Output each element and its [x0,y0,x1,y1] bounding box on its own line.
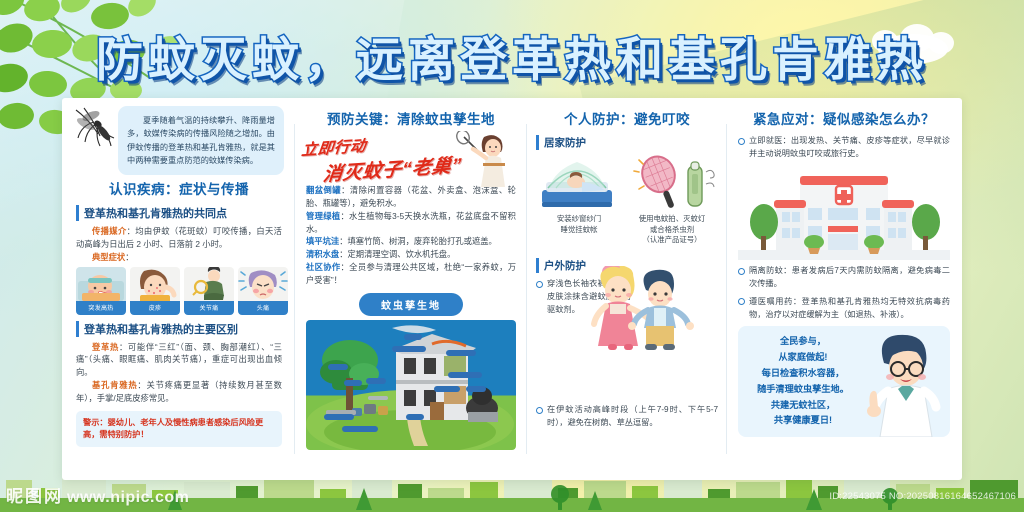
breeding-sites-illustration [306,320,516,450]
emergency-key: 立即就医 [749,136,783,145]
hospital-building-icon [738,164,950,260]
column-disease-knowledge: 夏季随着气温的持续攀升、降雨量增多，蚊媒传染病的传播风险随之增加。由伊蚊传播的登… [62,98,294,480]
protection-item: 安装纱窗纱门 睡觉挂蚊帐 [536,154,622,246]
poster-stage: 防蚊灭蚊，远离登革热和基孔肯雅热 [0,0,1024,512]
cta-line: 从家庭做起! [747,350,859,366]
section-title-prevention: 预防关键：清除蚊虫孳生地 [306,108,516,128]
headache-icon [238,267,288,301]
section-title-disease: 认识疾病：症状与传播 [76,178,282,198]
emergency-bullet-body: 遵医嘱用药：登革热和基孔肯雅热均无特效抗病毒药物，治疗以对症缓解为主（如退热、补… [749,296,950,321]
label-transmission-vector: 传播媒介 [92,226,127,236]
symptom-card-row: 突发高热 皮疹 [76,267,282,315]
bullet-dot-icon [536,407,543,414]
poster-title: 防蚊灭蚊，远离登革热和基孔肯雅热 [0,26,1024,96]
image-id-text: ID:22543075 NO:20250816164652467106 [829,491,1016,502]
protection-item: 使用电蚊拍、灭蚊灯 或合格杀虫剂 （认准产品证号） [626,154,718,246]
label-typical-symptoms: 典型症状 [92,252,125,262]
section-title-emergency: 紧急应对：疑似感染怎么办？ [738,108,950,128]
emergency-bullet: 隔离防蚊：患者发病后7天内需防蚊隔离，避免病毒二次传播。 [738,265,950,290]
column-emergency-response: 紧急应对：疑似感染怎么办？ 立即就医：出现发热、关节痛、皮疹等症状，尽早就诊并主… [726,98,962,480]
label-dengue: 登革热 [92,342,119,352]
symptom-card: 头痛 [238,267,288,315]
symptom-card: 突发高热 [76,267,126,315]
column-personal-protection: 个人防护：避免叮咬 居家防护 [526,98,726,480]
subheading-differences: 登革热和基孔肯雅热的主要区别 [76,321,282,337]
prevention-item: 清积水盘：定期清理空调、饮水机托盘。 [306,248,516,261]
call-to-action-box: 全民参与， 从家庭做起! 每日检查积水容器， 随手清理蚊虫孳生地。 共建无蚊社区… [738,326,950,437]
cta-line: 全民参与， [747,334,859,350]
prevention-text: ：填塞竹筒、树洞，废弃轮胎打孔或遮盖。 [339,236,497,246]
symptom-card: 关节痛 [184,267,234,315]
mosquito-net-bed-icon [536,154,622,212]
prevention-item: 翻盆倒罐：清除闲置容器（花盆、外卖盒、泡沫盒、轮胎、瓶罐等），避免积水。 [306,184,516,210]
cta-text-block: 全民参与， 从家庭做起! 每日检查积水容器， 随手清理蚊虫孳生地。 共建无蚊社区… [747,334,859,429]
prevention-item: 社区协作：全员参与清理公共区域，杜绝“一家养蚊，万户受害”！ [306,261,516,287]
bullet-dot-icon [738,298,745,305]
paragraph-chikungunya: 基孔肯雅热：关节疼痛更显著（持续数月甚至数年），手掌/足底皮疹常见。 [76,379,282,405]
symptom-label: 关节痛 [184,301,234,315]
prevention-key: 管理绿植 [306,211,340,221]
prevention-key: 清积水盘 [306,249,339,259]
symptom-label: 突发高热 [76,301,126,315]
bullet-dot-icon [738,138,745,145]
home-protection-icons: 安装纱窗纱门 睡觉挂蚊帐 [536,154,718,246]
breeding-sites-pill-label: 蚊虫孳生地 [359,293,463,316]
children-outdoor-illustration [536,316,718,402]
emergency-bullet-body: 隔离防蚊：患者发病后7天内需防蚊隔离，避免病毒二次传播。 [749,265,950,290]
column-prevention: 预防关键：清除蚊虫孳生地 立即行动 消灭蚊子“老巢” 翻盆倒罐：清除闲置 [294,98,526,480]
cta-line: 共建无蚊社区， [747,398,859,414]
emergency-bullet: 立即就医：出现发热、关节痛、皮疹等症状，尽早就诊并主动说明蚊虫叮咬或旅行史。 [738,135,950,160]
watermark-url: www.nipic.com [67,489,189,506]
text-typical-symptoms: ： [125,252,133,262]
emergency-bullet: 遵医嘱用药：登革热和基孔肯雅热均无特效抗病毒药物，治疗以对症缓解为主（如退热、补… [738,296,950,321]
doctor-illustration [862,333,948,437]
paragraph-transmission: 传播媒介：均由伊蚊（花斑蚊）叮咬传播，白天活动高峰为日出后 2 小时、日落前 2… [76,225,282,251]
rash-icon [130,267,180,301]
label-chikungunya: 基孔肯雅热 [92,380,137,390]
mosquito-icon [64,100,120,152]
paragraph-typical-symptoms: 典型症状： [76,251,282,264]
emergency-key: 隔离防蚊 [749,266,783,275]
bullet-dot-icon [738,268,745,275]
woman-with-racket-icon [456,131,518,187]
cta-line: 随手清理蚊虫孳生地。 [747,382,859,398]
paragraph-dengue: 登革热：可能伴“三红”（面、颈、胸部潮红）、“三痛”（头痛、眼眶痛、肌肉关节痛）… [76,341,282,380]
subheading-common-points: 登革热和基孔肯雅热的共同点 [76,205,282,221]
prevention-item-list: 翻盆倒罐：清除闲置容器（花盆、外卖盒、泡沫盒、轮胎、瓶罐等），避免积水。 管理绿… [306,184,516,287]
symptom-card: 皮疹 [130,267,180,315]
content-panel: 夏季随着气温的持续攀升、降雨量增多，蚊媒传染病的传播风险随之增加。由伊蚊传播的登… [62,98,962,480]
slogan-line1: 立即行动 [301,134,368,160]
emergency-key: 遵医嘱用药 [749,297,793,306]
joint-pain-icon [184,267,234,301]
outdoor-bullet: 在伊蚊活动高峰时段（上午7-9时、下午5-7时），避免在树荫、草丛逗留。 [536,404,718,429]
intro-bubble: 夏季随着气温的持续攀升、降雨量增多，蚊媒传染病的传播风险随之增加。由伊蚊传播的登… [118,106,284,175]
outdoor-bullet-text: 在伊蚊活动高峰时段（上午7-9时、下午5-7时），避免在树荫、草丛逗留。 [547,404,718,429]
prevention-key: 填平坑洼 [306,236,339,246]
watermark-cn: 昵图网 [6,487,63,506]
subheading-home-protection: 居家防护 [536,135,718,150]
warning-box: 警示：婴幼儿、老年人及慢性病患者感染后风险更高，需特别防护！ [76,411,282,448]
protection-caption: 安装纱窗纱门 睡觉挂蚊帐 [536,214,622,235]
prevention-item: 填平坑洼：填塞竹筒、树洞，废弃轮胎打孔或遮盖。 [306,235,516,248]
section-title-personal-protection: 个人防护：避免叮咬 [536,108,718,128]
symptom-label: 皮疹 [130,301,180,315]
symptom-label: 头痛 [238,301,288,315]
prevention-item: 管理绿植：水生植物每3-5天换水洗瓶，花盆底盘不留积水。 [306,210,516,236]
watermark: 昵图网www.nipic.com [6,482,189,507]
electric-swatter-icon [626,154,718,212]
protection-caption: 使用电蚊拍、灭蚊灯 或合格杀虫剂 （认准产品证号） [626,214,718,246]
fever-icon [76,267,126,301]
cta-line: 共享健康夏日! [747,413,859,429]
emergency-bullet-body: 立即就医：出现发热、关节痛、皮疹等症状，尽早就诊并主动说明蚊虫叮咬或旅行史。 [749,135,950,160]
prevention-key: 社区协作 [306,262,341,272]
prevention-text: ：定期清理空调、饮水机托盘。 [339,249,455,259]
cta-line: 每日检查积水容器， [747,366,859,382]
slogan-block: 立即行动 消灭蚊子“老巢” [306,135,516,181]
